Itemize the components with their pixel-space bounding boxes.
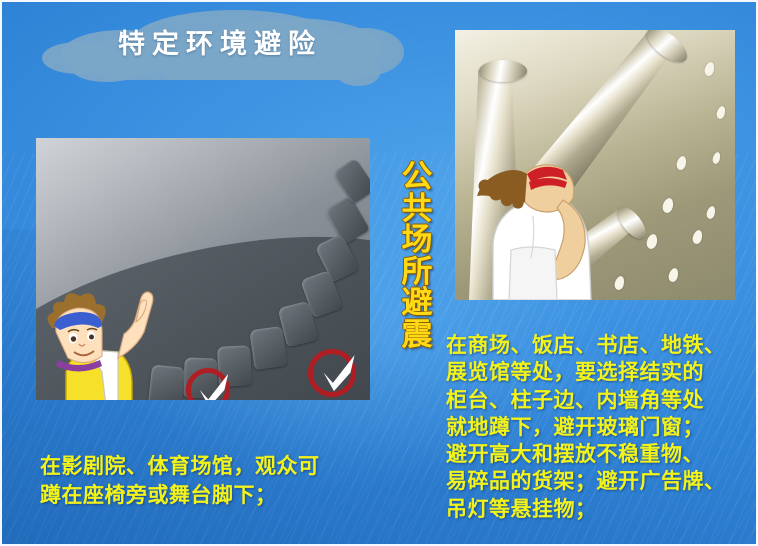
check-icon	[186, 368, 230, 400]
seat	[249, 326, 287, 370]
cloud-shape-part	[336, 60, 380, 86]
check-icon	[308, 349, 356, 397]
boy-character	[36, 276, 160, 400]
vertical-heading-char: 震	[396, 320, 438, 352]
presentation-slide: 特定环境避险	[0, 0, 758, 546]
vertical-heading-char: 共	[396, 194, 438, 226]
slide-title: 特定环境避险	[36, 22, 404, 61]
vertical-heading-char: 公	[396, 162, 438, 194]
girl-character	[471, 140, 603, 300]
vertical-heading-char: 所	[396, 257, 438, 289]
pillar-shelter-image	[455, 30, 735, 300]
theater-seating-image	[36, 138, 370, 400]
title-banner: 特定环境避险	[36, 4, 404, 88]
theater-body-text: 在影剧院、体育场馆，观众可 蹲在座椅旁或舞台脚下；	[40, 452, 400, 509]
pillar-capital	[479, 60, 527, 82]
vertical-heading-char: 避	[396, 288, 438, 320]
public-places-body-text: 在商场、饭店、书店、地铁、 展览馆等处，要选择结实的 柜台、柱子边、内墙角等处 …	[446, 332, 752, 523]
vertical-heading-char: 场	[396, 225, 438, 257]
vertical-section-heading: 公 共 场 所 避 震	[396, 162, 438, 352]
